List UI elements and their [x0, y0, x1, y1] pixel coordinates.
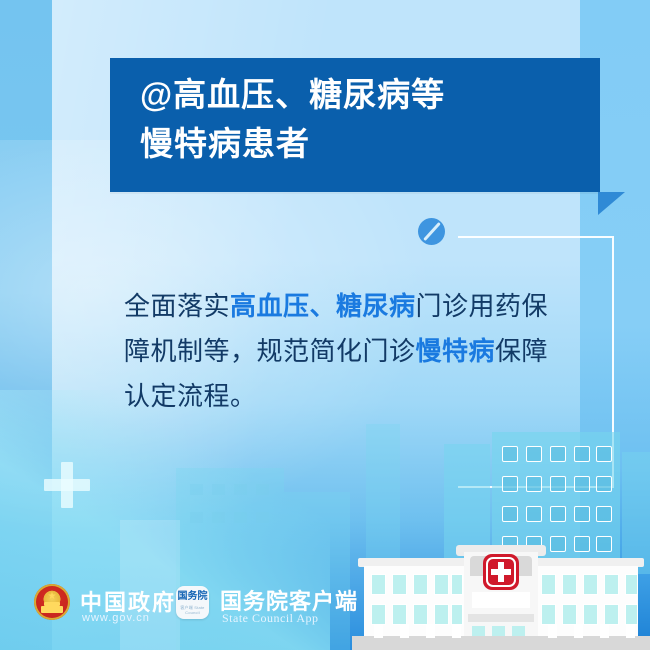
tower-window — [596, 446, 612, 462]
gov-site-url: www.gov.cn — [82, 612, 150, 624]
body-highlight-diseases: 高血压、糖尿病 — [230, 291, 416, 321]
poster-canvas: @高血压、糖尿病等 慢特病患者 全面落实高血压、糖尿病门诊用药保障机制等，规范简… — [0, 0, 650, 650]
pill-slash — [423, 222, 441, 241]
red-cross-bar-v — [498, 562, 504, 582]
tower-window — [596, 476, 612, 492]
emblem-gate — [41, 606, 63, 613]
header-title-line1: @高血压、糖尿病等 — [140, 70, 580, 119]
tower-window — [574, 446, 590, 462]
state-council-app-icon: 国务院 客户端 State Council — [176, 586, 209, 619]
body-text-a: 全面落实 — [124, 291, 230, 321]
tower-window — [526, 506, 542, 522]
national-emblem-icon: ★ — [34, 584, 70, 620]
ghost-window — [234, 512, 247, 523]
app-icon-sublabel: 客户端 State Council — [176, 605, 209, 615]
tower-window — [574, 506, 590, 522]
ghost-window — [212, 512, 225, 523]
header-title-line2: 慢特病患者 — [140, 119, 580, 168]
body-paragraph: 全面落实高血压、糖尿病门诊用药保障机制等，规范简化门诊慢特病保障认定流程。 — [124, 284, 554, 419]
ghost-window — [256, 484, 269, 495]
tower-window — [550, 476, 566, 492]
ghost-window — [212, 484, 225, 495]
body-text-b: 门诊用药 — [416, 291, 522, 321]
app-icon-label: 国务院 — [176, 592, 209, 602]
tower-window — [502, 476, 518, 492]
banner-fold-corner — [598, 192, 625, 215]
tower-window — [550, 446, 566, 462]
tower-window — [502, 446, 518, 462]
tower-window — [502, 506, 518, 522]
ghost-window — [256, 512, 269, 523]
emblem-star: ★ — [48, 592, 57, 602]
plus-icon-bar-v — [61, 462, 73, 508]
plus-icon — [44, 462, 90, 508]
tower-window — [596, 506, 612, 522]
tower-window — [550, 506, 566, 522]
ghost-window — [234, 484, 247, 495]
header-title: @高血压、糖尿病等 慢特病患者 — [140, 70, 580, 168]
pill-icon — [418, 218, 445, 245]
ghost-window — [190, 484, 203, 495]
tower-window — [526, 476, 542, 492]
body-highlight-chronic: 慢特病 — [416, 336, 496, 366]
ghost-window — [190, 512, 203, 523]
app-name-english: State Council App — [222, 611, 319, 626]
tower-window — [526, 446, 542, 462]
tower-window — [574, 476, 590, 492]
